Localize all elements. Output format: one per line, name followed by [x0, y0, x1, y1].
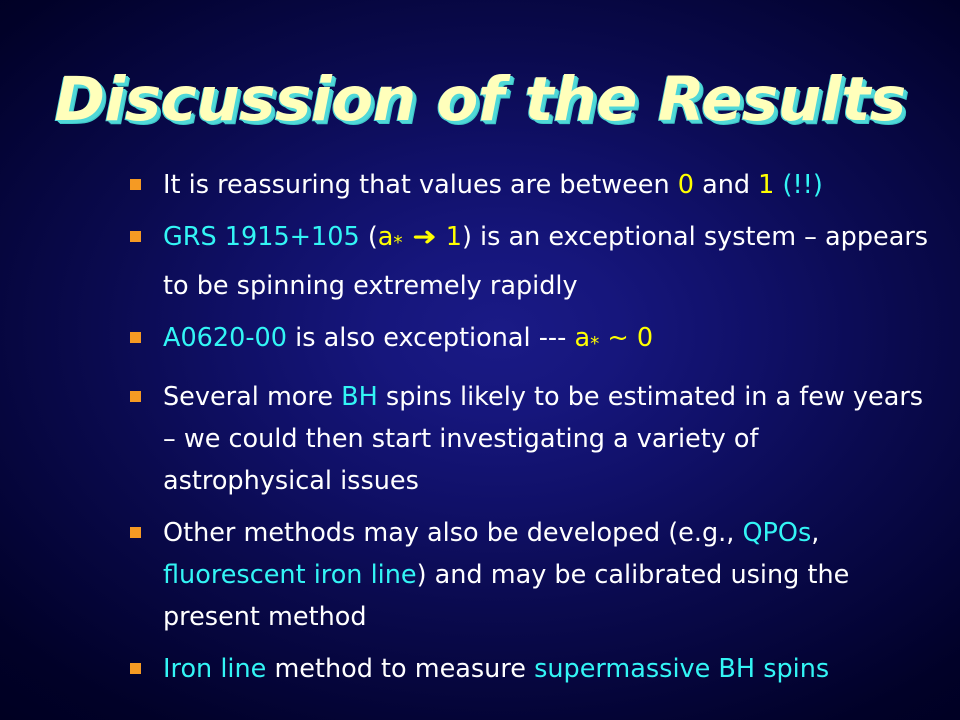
text-run: * — [393, 233, 402, 254]
text-run: method to measure — [266, 654, 534, 684]
text-run — [774, 170, 782, 200]
list-item: Other methods may also be developed (e.g… — [122, 512, 934, 638]
presentation-slide: Discussion of the Results It is reassuri… — [0, 0, 960, 720]
bullet-square-icon — [130, 663, 141, 674]
text-run: 1 — [758, 170, 774, 200]
bullet-square-icon — [130, 179, 141, 190]
bullet-square-icon — [130, 527, 141, 538]
text-run: ( — [360, 222, 378, 252]
text-run: It is reassuring that values are between — [163, 170, 678, 200]
list-item: Iron line method to measure supermassive… — [122, 648, 934, 690]
page-title: Discussion of the Results — [0, 64, 960, 135]
list-item-text: It is reassuring that values are between… — [163, 170, 823, 200]
text-run: and — [694, 170, 758, 200]
right-arrow-icon: ➜ — [408, 216, 440, 258]
text-run: Several more — [163, 382, 341, 412]
bullet-square-icon — [130, 332, 141, 343]
list-item: GRS 1915+105 (a* ➜ 1) is an exceptional … — [122, 216, 934, 307]
text-run: a — [378, 222, 394, 252]
list-item-text: Other methods may also be developed (e.g… — [163, 518, 849, 632]
text-run: QPOs — [742, 518, 811, 548]
bullet-list: It is reassuring that values are between… — [122, 164, 934, 700]
text-run: BH — [341, 382, 378, 412]
text-run: supermassive BH spins — [534, 654, 829, 684]
list-item: A0620-00 is also exceptional --- a* ~ 0 — [122, 317, 934, 366]
text-run: is also exceptional --- — [287, 323, 574, 353]
list-item-text: A0620-00 is also exceptional --- a* ~ 0 — [163, 323, 653, 353]
text-run: fluorescent iron line — [163, 560, 417, 590]
text-run: a — [574, 323, 590, 353]
bullet-square-icon — [130, 231, 141, 242]
text-run: ~ 0 — [599, 323, 653, 353]
text-run: Iron line — [163, 654, 266, 684]
text-run: , — [811, 518, 819, 548]
list-item-text: GRS 1915+105 (a* ➜ 1) is an exceptional … — [163, 222, 928, 301]
text-run: A0620-00 — [163, 323, 287, 353]
text-run: * — [590, 334, 599, 355]
list-item: Several more BH spins likely to be estim… — [122, 376, 934, 502]
list-item-text: Iron line method to measure supermassive… — [163, 654, 829, 684]
text-run: GRS 1915+105 — [163, 222, 360, 252]
text-run: 1 — [446, 222, 462, 252]
bullet-square-icon — [130, 391, 141, 402]
text-run: (!!) — [783, 170, 823, 200]
text-run: Other methods may also be developed (e.g… — [163, 518, 742, 548]
list-item-text: Several more BH spins likely to be estim… — [163, 382, 923, 496]
list-item: It is reassuring that values are between… — [122, 164, 934, 206]
text-run: 0 — [678, 170, 694, 200]
